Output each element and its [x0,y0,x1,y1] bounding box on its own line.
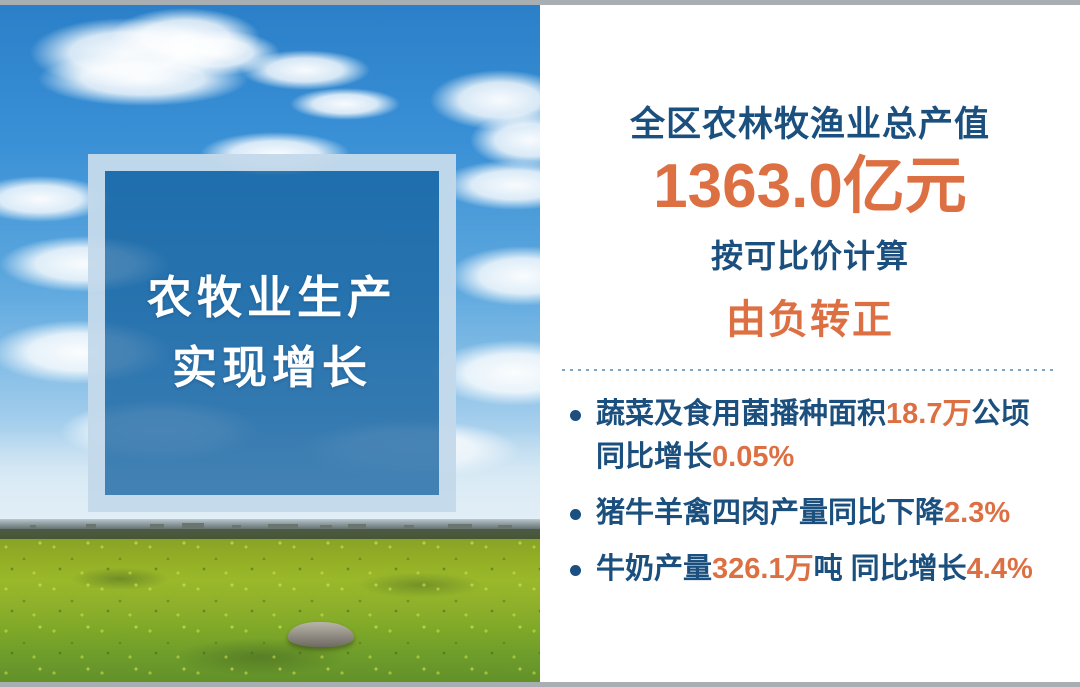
top-edge-strip [0,0,1080,5]
bullet-dot-icon [570,565,581,576]
photo-title-line-2: 实现增长 [172,333,372,403]
stat-value: 326.1万 [712,553,814,585]
photo-title-line-1: 农牧业生产 [147,263,397,333]
bullet-dot-icon [570,509,581,520]
stat-value: 4.4% [967,553,1033,585]
headline-value: 1363.0亿元 [540,153,1080,221]
stat-label: 蔬菜及食用菌播种面积 [596,398,886,430]
infographic-poster: 农牧业生产 实现增长 全区农林牧渔业总产值 1363.0亿元 按可比价计算 由负… [0,0,1080,687]
stat-line: 牛奶产量326.1万吨 同比增长4.4% [596,548,1080,591]
stat-value: 18.7万 [886,398,971,430]
list-item: 猪牛羊禽四肉产量同比下降2.3% [568,492,1080,535]
headline-block: 全区农林牧渔业总产值 1363.0亿元 按可比价计算 由负转正 [540,96,1080,345]
list-item: 蔬菜及食用菌播种面积18.7万公顷同比增长0.05% [568,393,1080,479]
bottom-edge-strip [0,682,1080,687]
stat-line: 蔬菜及食用菌播种面积18.7万公顷 [596,393,1080,436]
stat-label: 公顷 [971,398,1029,430]
rock [288,622,354,647]
landscape-photo: 农牧业生产 实现增长 [0,0,540,687]
stat-label: 猪牛羊禽四肉产量同比下降 [596,497,944,529]
stat-label: 吨 同比增长 [814,553,967,585]
headline-title: 全区农林牧渔业总产值 [540,96,1080,147]
photo-title-card: 农牧业生产 实现增长 [88,154,456,512]
field-texture [0,539,540,687]
stat-label: 牛奶产量 [596,553,712,585]
flower-field [0,539,540,687]
stat-value: 0.05% [712,441,794,473]
list-item: 牛奶产量326.1万吨 同比增长4.4% [568,548,1080,591]
info-panel: 全区农林牧渔业总产值 1363.0亿元 按可比价计算 由负转正 蔬菜及食用菌播种… [540,0,1080,687]
stat-line: 同比增长0.05% [596,436,1080,479]
stat-label: 同比增长 [596,441,712,473]
stat-value: 2.3% [944,497,1010,529]
bullet-dot-icon [570,410,581,421]
headline-note: 按可比价计算 [540,231,1080,277]
dotted-divider [562,369,1058,371]
headline-trend: 由负转正 [540,287,1080,345]
statistics-list: 蔬菜及食用菌播种面积18.7万公顷同比增长0.05%猪牛羊禽四肉产量同比下降2.… [568,393,1080,591]
distant-buildings [0,521,540,529]
stat-line: 猪牛羊禽四肉产量同比下降2.3% [596,492,1080,535]
